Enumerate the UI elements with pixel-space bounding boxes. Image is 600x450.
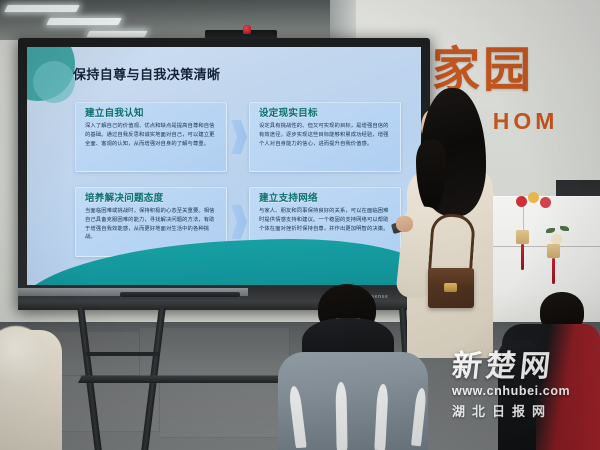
claw-graphic	[335, 382, 347, 450]
wall-sign-chinese: 家园	[432, 46, 600, 94]
watermark-url: www.cnhubei.com	[452, 384, 600, 398]
card-body: 设定具有挑战性的、但又可实现的目标，是增强自信的有效途径。逐步实现这些目标能够积…	[259, 122, 392, 148]
card-heading: 培养解决问题态度	[85, 194, 218, 204]
slide-card-1: 建立自我认知 深入了解自己的价值观、优点和缺点是提高自尊和自信的基础。通过自我反…	[75, 102, 227, 172]
card-body: 与家人、朋友和同事保持良好的关系，可以在面临困难时提供情感支持和建议。一个稳固的…	[259, 207, 392, 233]
arrow-chevron-icon	[231, 205, 247, 239]
card-body: 深入了解自己的价值观、优点和缺点是提高自尊和自信的基础。通过自我反思和诚实地面对…	[85, 122, 218, 148]
soundbar	[120, 292, 240, 297]
watermark-subtitle: 湖北日报网	[452, 401, 600, 420]
decorative-circle	[33, 61, 75, 103]
card-heading: 建立支持网络	[259, 194, 392, 204]
ceiling-light	[46, 18, 121, 25]
slide-title: 保持自尊与自我决策清晰	[73, 64, 220, 83]
stand-crossbar	[86, 352, 160, 356]
camera-indicator-led	[243, 25, 251, 34]
bag-clasp-icon	[444, 283, 457, 292]
ceiling	[0, 0, 352, 40]
card-body: 当面临困难或挑战时，保持积极的心态至关重要。相信自己具备克服困难的能力，寻找解决…	[85, 207, 218, 241]
ceiling-light	[4, 5, 79, 12]
presenter-hand	[396, 216, 413, 232]
card-heading: 建立自我认知	[85, 109, 218, 119]
camera-icon	[205, 30, 277, 39]
slide-card-2: 设定现实目标 设定具有挑战性的、但又可实现的目标，是增强自信的有效途径。逐步实现…	[249, 102, 401, 172]
watermark: 新楚网 www.cnhubei.com 湖北日报网	[452, 352, 600, 420]
presentation-slide[interactable]: 保持自尊与自我决策清晰 建立自我认知 深入了解自己的价值观、优点和缺点是提高自尊…	[27, 47, 421, 285]
arrow-chevron-icon	[231, 120, 247, 154]
card-heading: 设定现实目标	[259, 109, 392, 119]
photo-scene: 家园 INE HOM 保持自尊与自我决策清晰	[0, 0, 600, 450]
bag-strap	[428, 213, 476, 274]
watermark-logo: 新楚网	[450, 352, 600, 382]
